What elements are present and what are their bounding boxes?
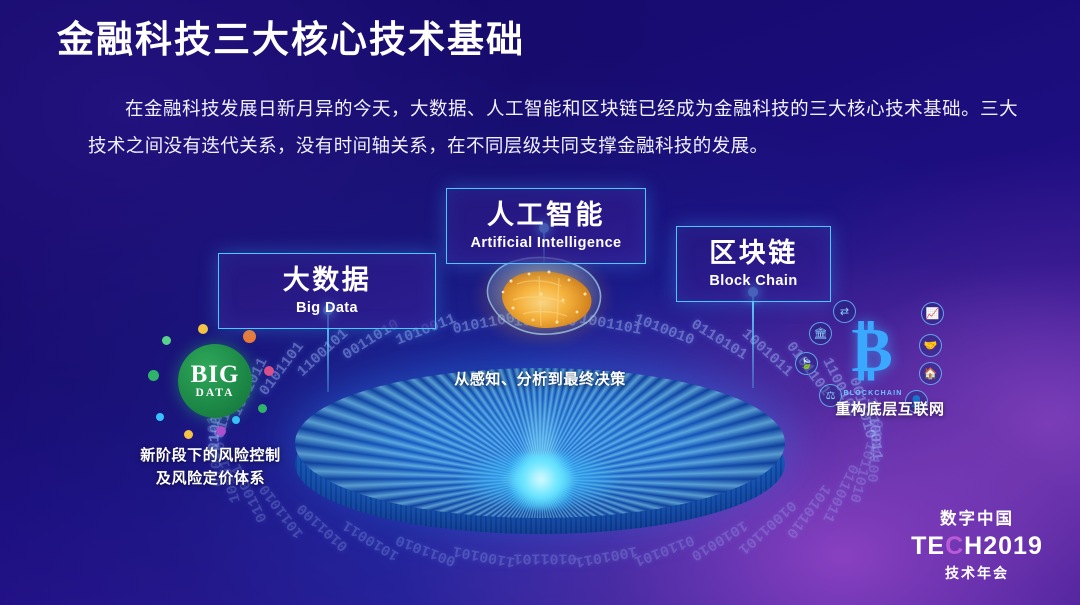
cluster-node-icon bbox=[184, 430, 193, 439]
card-title-cn: 大数据 bbox=[241, 265, 413, 297]
caption-blockchain: 重构底层互联网 bbox=[800, 398, 980, 421]
bank-icon: 🏛 bbox=[809, 322, 832, 345]
big-data-badge: BIG DATA bbox=[140, 318, 285, 443]
big-data-label-data: DATA bbox=[196, 387, 235, 399]
card-big-data[interactable]: 大数据 Big Data bbox=[218, 253, 436, 329]
cluster-node-icon bbox=[156, 413, 164, 421]
card-title-cn: 人工智能 bbox=[469, 200, 623, 232]
logo-tech-suffix: H2019 bbox=[964, 532, 1043, 560]
bitcoin-symbol-icon: ₿ bbox=[845, 314, 899, 388]
card-title-en: Big Data bbox=[241, 300, 413, 316]
logo-line-annual-conference: 技术年会 bbox=[902, 563, 1052, 583]
blockchain-wordmark: BLOCKCHAIN bbox=[837, 390, 909, 397]
logo-tech-c: C bbox=[945, 532, 964, 560]
logo-tech-prefix: TE bbox=[911, 532, 945, 560]
leaf-icon: 🍃 bbox=[795, 352, 818, 375]
logo-tech2019-wordmark: TECH2019 bbox=[902, 532, 1052, 561]
disc-core-glow bbox=[510, 454, 572, 510]
big-data-label-big: BIG bbox=[191, 363, 240, 387]
card-block-chain[interactable]: 区块链 Block Chain bbox=[676, 226, 831, 302]
cluster-node-icon bbox=[243, 330, 256, 343]
handshake-icon: 🤝 bbox=[919, 334, 942, 357]
cluster-node-icon bbox=[232, 416, 240, 424]
card-title-cn: 区块链 bbox=[699, 238, 808, 270]
house-icon: 🏠 bbox=[919, 362, 942, 385]
caption-ai: 从感知、分析到最终决策 bbox=[430, 368, 650, 391]
page-title: 金融科技三大核心技术基础 bbox=[57, 18, 525, 62]
cluster-node-icon bbox=[198, 324, 208, 334]
card-artificial-intelligence[interactable]: 人工智能 Artificial Intelligence bbox=[446, 188, 646, 264]
chart-icon: 📈 bbox=[921, 302, 944, 325]
body-paragraph: 在金融科技发展日新月异的今天，大数据、人工智能和区块链已经成为金融科技的三大核心… bbox=[88, 90, 1018, 164]
cluster-node-icon bbox=[162, 336, 171, 345]
platform-disc bbox=[295, 368, 785, 553]
logo-line-digital-china: 数字中国 bbox=[902, 505, 1052, 529]
slide-root: 金融科技三大核心技术基础 在金融科技发展日新月异的今天，大数据、人工智能和区块链… bbox=[0, 0, 1080, 605]
cluster-node-icon bbox=[264, 366, 274, 376]
connector-stem-blockchain bbox=[752, 292, 754, 388]
caption-big-data-line1: 新阶段下的风险控制 bbox=[108, 444, 313, 467]
event-logo: 数字中国 TECH2019 技术年会 bbox=[902, 505, 1052, 583]
big-data-core-circle: BIG DATA bbox=[178, 344, 252, 418]
cluster-node-icon bbox=[258, 404, 267, 413]
body-paragraph-text: 在金融科技发展日新月异的今天，大数据、人工智能和区块链已经成为金融科技的三大核心… bbox=[88, 90, 1018, 164]
card-title-en: Artificial Intelligence bbox=[469, 235, 623, 251]
cluster-node-icon bbox=[216, 426, 226, 436]
caption-big-data-line2: 及风险定价体系 bbox=[108, 467, 313, 490]
cluster-node-icon bbox=[148, 370, 159, 381]
card-title-en: Block Chain bbox=[699, 273, 808, 289]
caption-big-data: 新阶段下的风险控制 及风险定价体系 bbox=[108, 444, 313, 491]
